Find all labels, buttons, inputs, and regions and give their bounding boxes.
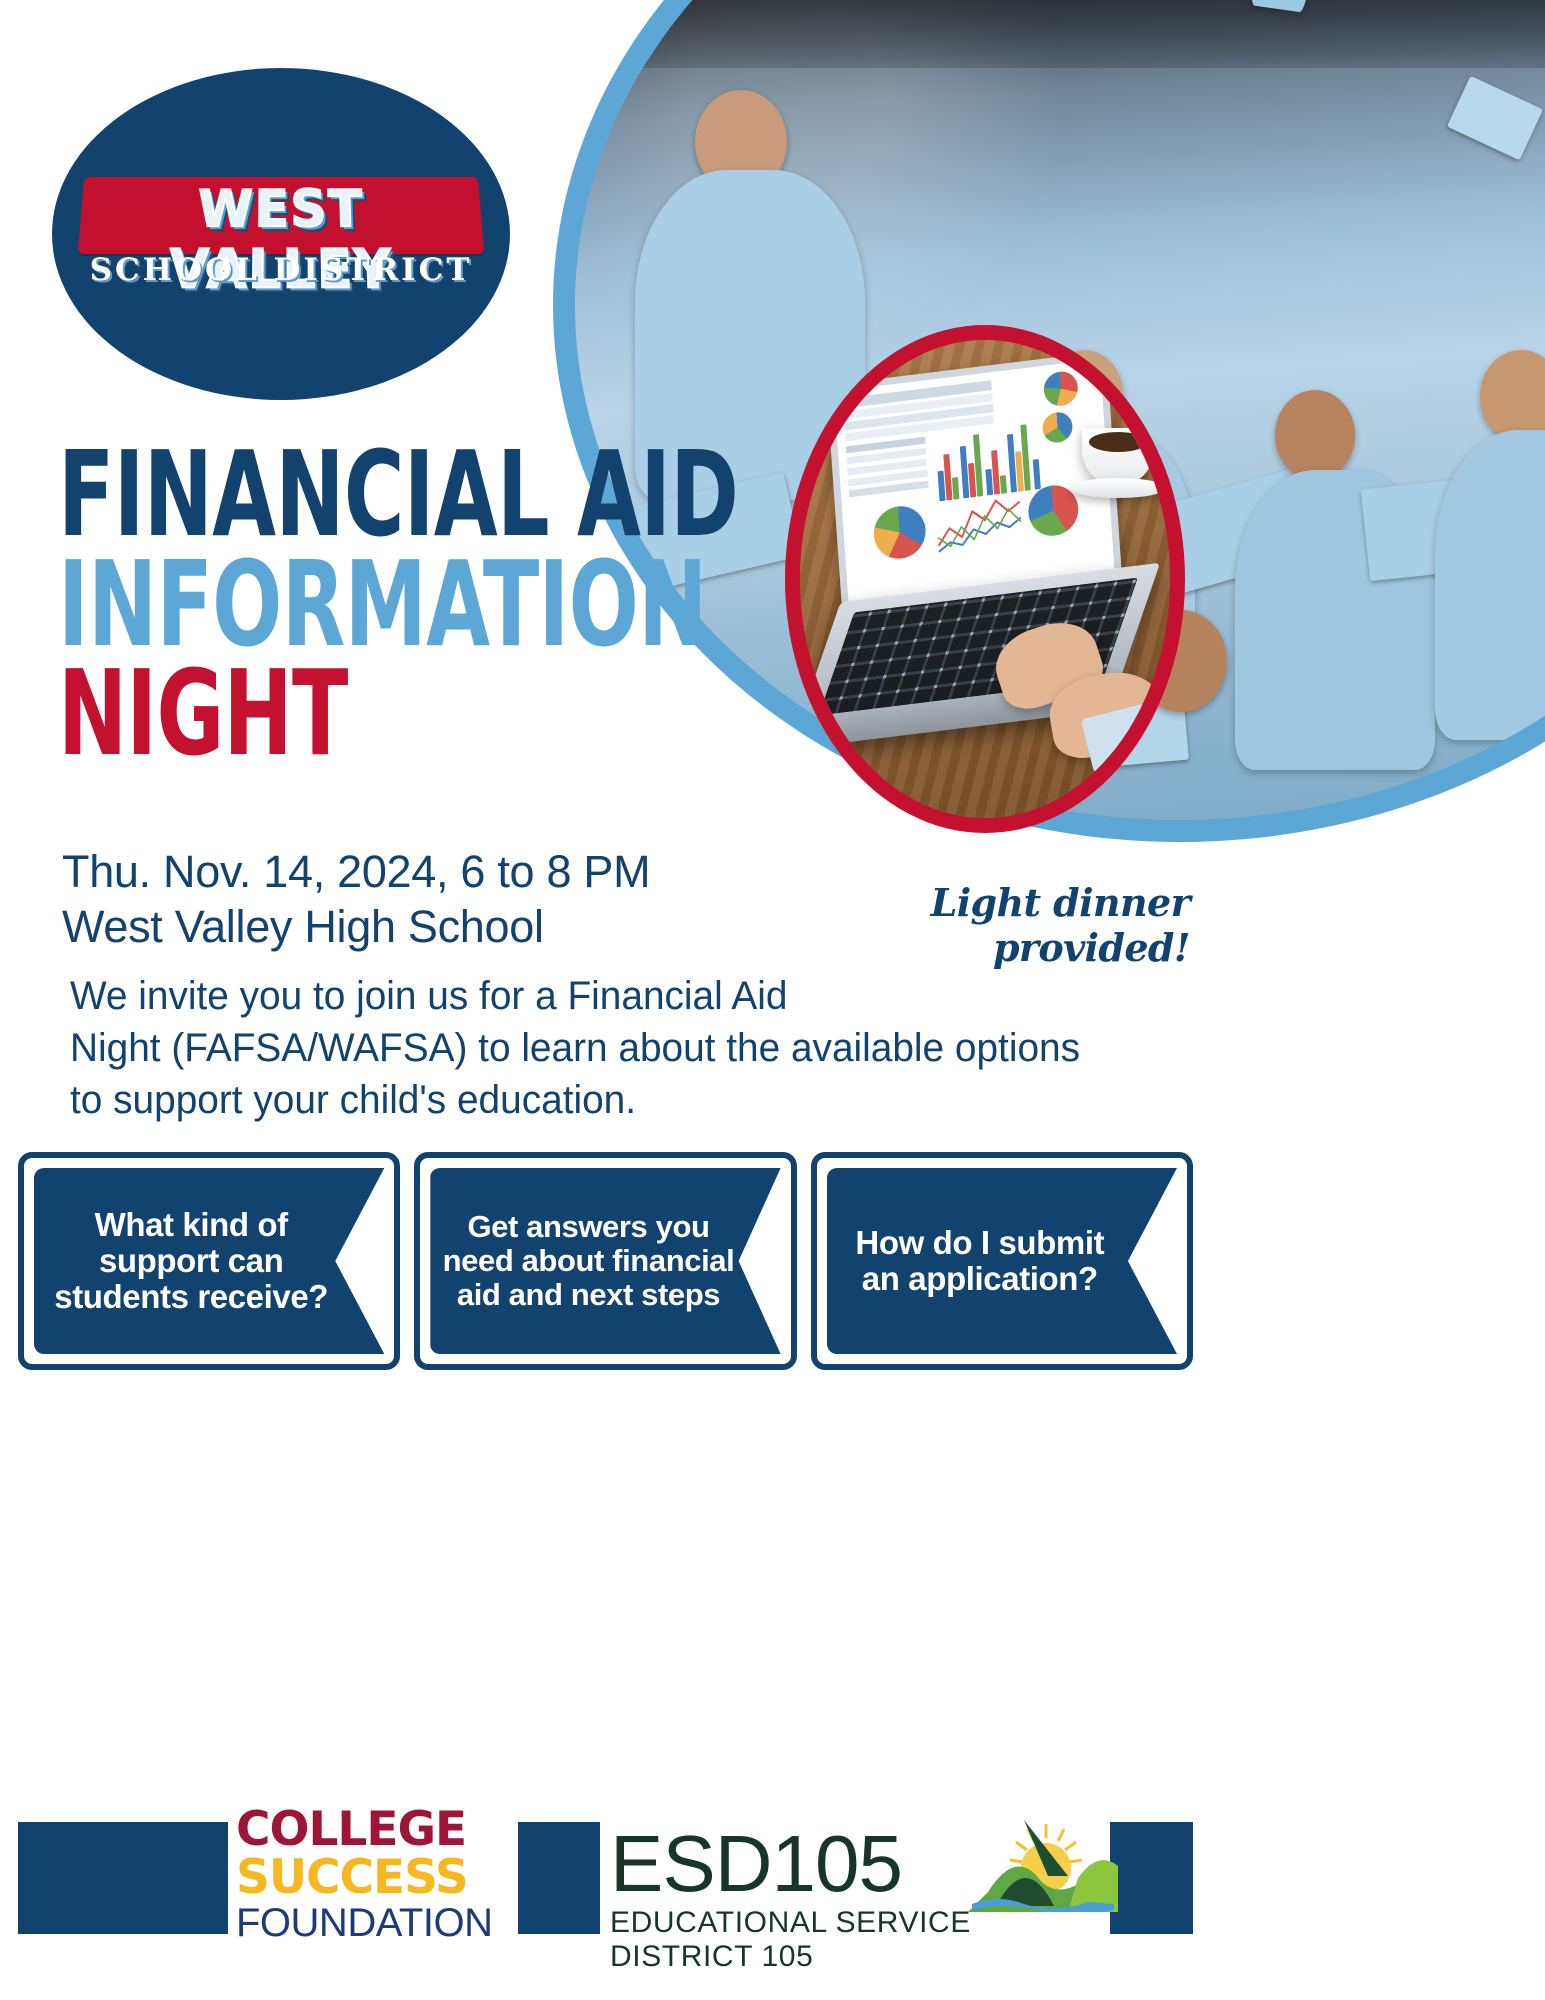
dinner-note: Light dinner provided! bbox=[770, 880, 1190, 970]
banner-application[interactable]: How do I submit an application? bbox=[811, 1152, 1193, 1370]
banner-application-label: How do I submit an application? bbox=[827, 1225, 1177, 1298]
csf-line-success: SUCCESS bbox=[236, 1854, 516, 1902]
banner-answers-ribbon: Get answers you need about financial aid… bbox=[430, 1168, 780, 1354]
logo-line-school-district: SCHOOL DISTRICT bbox=[71, 252, 491, 288]
title-line-financial-aid: FINANCIAL AID bbox=[58, 440, 576, 550]
csf-line-foundation: FOUNDATION bbox=[236, 1902, 516, 1944]
intro-line-2: Night (FAFSA/WAFSA) to learn about the a… bbox=[70, 1022, 1093, 1074]
event-details: Thu. Nov. 14, 2024, 6 to 8 PM West Valle… bbox=[62, 845, 762, 955]
page-title: FINANCIAL AID INFORMATION NIGHT bbox=[58, 440, 798, 769]
college-success-foundation-logo: COLLEGE SUCCESS FOUNDATION bbox=[236, 1806, 516, 1944]
west-valley-school-district-logo: WEST VALLEY SCHOOL DISTRICT bbox=[52, 68, 510, 400]
banner-answers[interactable]: Get answers you need about financial aid… bbox=[414, 1152, 796, 1370]
esd-tagline: EDUCATIONAL SERVICE DISTRICT 105 bbox=[610, 1906, 1110, 1974]
coffee-saucer bbox=[1070, 478, 1166, 498]
intro-line-1: We invite you to join us for a Financial… bbox=[70, 970, 1093, 1022]
intro-paragraph: We invite you to join us for a Financial… bbox=[70, 970, 1093, 1126]
line-chart bbox=[933, 489, 1024, 558]
intro-line-3: to support your child's education. bbox=[70, 1074, 1093, 1126]
banner-support-ribbon: What kind of support can students receiv… bbox=[34, 1168, 384, 1354]
event-venue: West Valley High School bbox=[62, 900, 762, 955]
banner-answers-label: Get answers you need about financial aid… bbox=[430, 1210, 780, 1312]
banner-application-ribbon: How do I submit an application? bbox=[827, 1168, 1177, 1354]
flyer-page: WEST VALLEY SCHOOL DISTRICT FINANCIAL AI… bbox=[0, 0, 1545, 2000]
title-line-information: INFORMATION bbox=[58, 550, 576, 660]
title-line-night: NIGHT bbox=[58, 659, 576, 769]
banner-support-label: What kind of support can students receiv… bbox=[34, 1207, 384, 1316]
gym-ceiling-shadow bbox=[575, 0, 1545, 68]
laptop-photo bbox=[800, 340, 1170, 818]
csf-line-college: COLLEGE bbox=[236, 1806, 516, 1854]
esd-mountain-sun-icon bbox=[928, 1820, 1118, 1912]
banner-support[interactable]: What kind of support can students receiv… bbox=[18, 1152, 400, 1370]
question-banner-group: What kind of support can students receiv… bbox=[18, 1152, 1193, 1370]
event-datetime: Thu. Nov. 14, 2024, 6 to 8 PM bbox=[62, 845, 762, 900]
